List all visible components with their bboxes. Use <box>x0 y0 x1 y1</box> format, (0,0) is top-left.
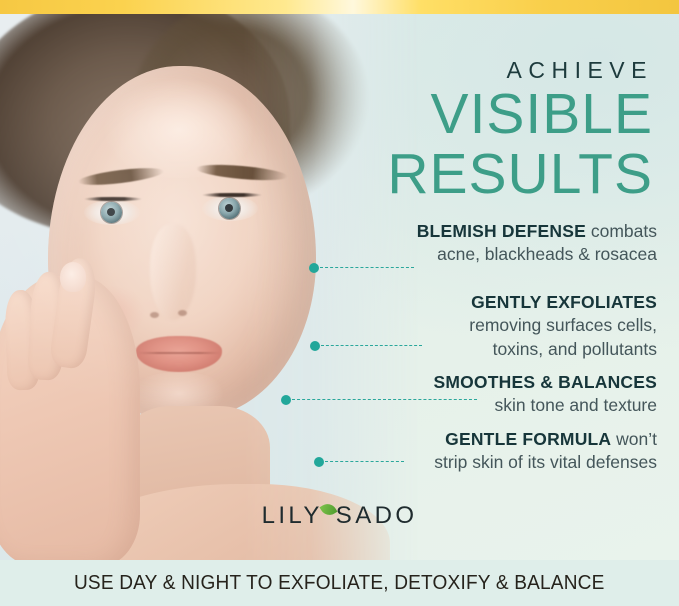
benefit-2-leader-line <box>310 345 422 346</box>
benefit-item-4: GENTLE FORMULA won’t strip skin of its v… <box>434 428 657 475</box>
benefit-3-leader-line <box>281 399 477 400</box>
benefit-1-leader-line <box>309 267 414 268</box>
benefit-3-detail: skin tone and texture <box>433 394 657 417</box>
benefit-3-title-line: SMOOTHES & BALANCES <box>433 371 657 394</box>
benefit-2-detail: removing surfaces cells, <box>469 314 657 337</box>
photo-soft-light <box>0 14 420 560</box>
brand-logo-word-2: SADO <box>336 502 418 529</box>
benefit-1-detail: acne, blackheads & rosacea <box>417 243 657 266</box>
brand-logo: LILYSADO <box>0 502 679 530</box>
advertisement-card: ACHIEVE VISIBLE RESULTS BLEMISH DEFENSE … <box>0 0 679 606</box>
headline-block: ACHIEVE VISIBLE RESULTS <box>387 58 653 204</box>
bottom-tagline-text: USE DAY & NIGHT TO EXFOLIATE, DETOXIFY &… <box>74 571 605 595</box>
benefit-1-title-line: BLEMISH DEFENSE combats <box>417 220 657 243</box>
benefit-4-detail: strip skin of its vital defenses <box>434 451 657 474</box>
benefit-1-title: BLEMISH DEFENSE <box>417 221 586 241</box>
benefit-4-title: GENTLE FORMULA <box>445 429 611 449</box>
benefit-3-title: SMOOTHES & BALANCES <box>433 372 657 392</box>
model-portrait-photo <box>0 14 420 560</box>
benefit-4-title-suffix: won’t <box>611 429 657 449</box>
benefit-3-bullet-dot <box>281 395 291 405</box>
benefit-2-bullet-dot <box>310 341 320 351</box>
top-accent-bar <box>0 0 679 14</box>
main-stage: ACHIEVE VISIBLE RESULTS BLEMISH DEFENSE … <box>0 14 679 560</box>
headline-line-2: RESULTS <box>387 145 653 203</box>
bottom-tagline-bar: USE DAY & NIGHT TO EXFOLIATE, DETOXIFY &… <box>0 560 679 606</box>
benefit-1-dashed-line <box>320 267 414 268</box>
benefit-1-title-suffix: combats <box>586 221 657 241</box>
benefit-1-bullet-dot <box>309 263 319 273</box>
benefit-item-2: GENTLY EXFOLIATES removing surfaces cell… <box>469 291 657 361</box>
benefit-2-title: GENTLY EXFOLIATES <box>471 292 657 312</box>
benefit-4-dashed-line <box>325 461 404 462</box>
benefit-2-title-line: GENTLY EXFOLIATES <box>469 291 657 314</box>
brand-logo-word-1: LILY <box>262 502 323 529</box>
benefit-2-dashed-line <box>321 345 422 346</box>
benefit-4-title-line: GENTLE FORMULA won’t <box>434 428 657 451</box>
benefit-item-3: SMOOTHES & BALANCES skin tone and textur… <box>433 371 657 418</box>
headline-line-1: VISIBLE <box>387 85 653 143</box>
benefit-4-bullet-dot <box>314 457 324 467</box>
benefit-3-dashed-line <box>292 399 477 400</box>
benefit-item-1: BLEMISH DEFENSE combats acne, blackheads… <box>417 220 657 267</box>
headline-eyebrow: ACHIEVE <box>387 58 653 83</box>
benefit-4-leader-line <box>314 461 404 462</box>
benefit-2-detail-2: toxins, and pollutants <box>469 338 657 361</box>
